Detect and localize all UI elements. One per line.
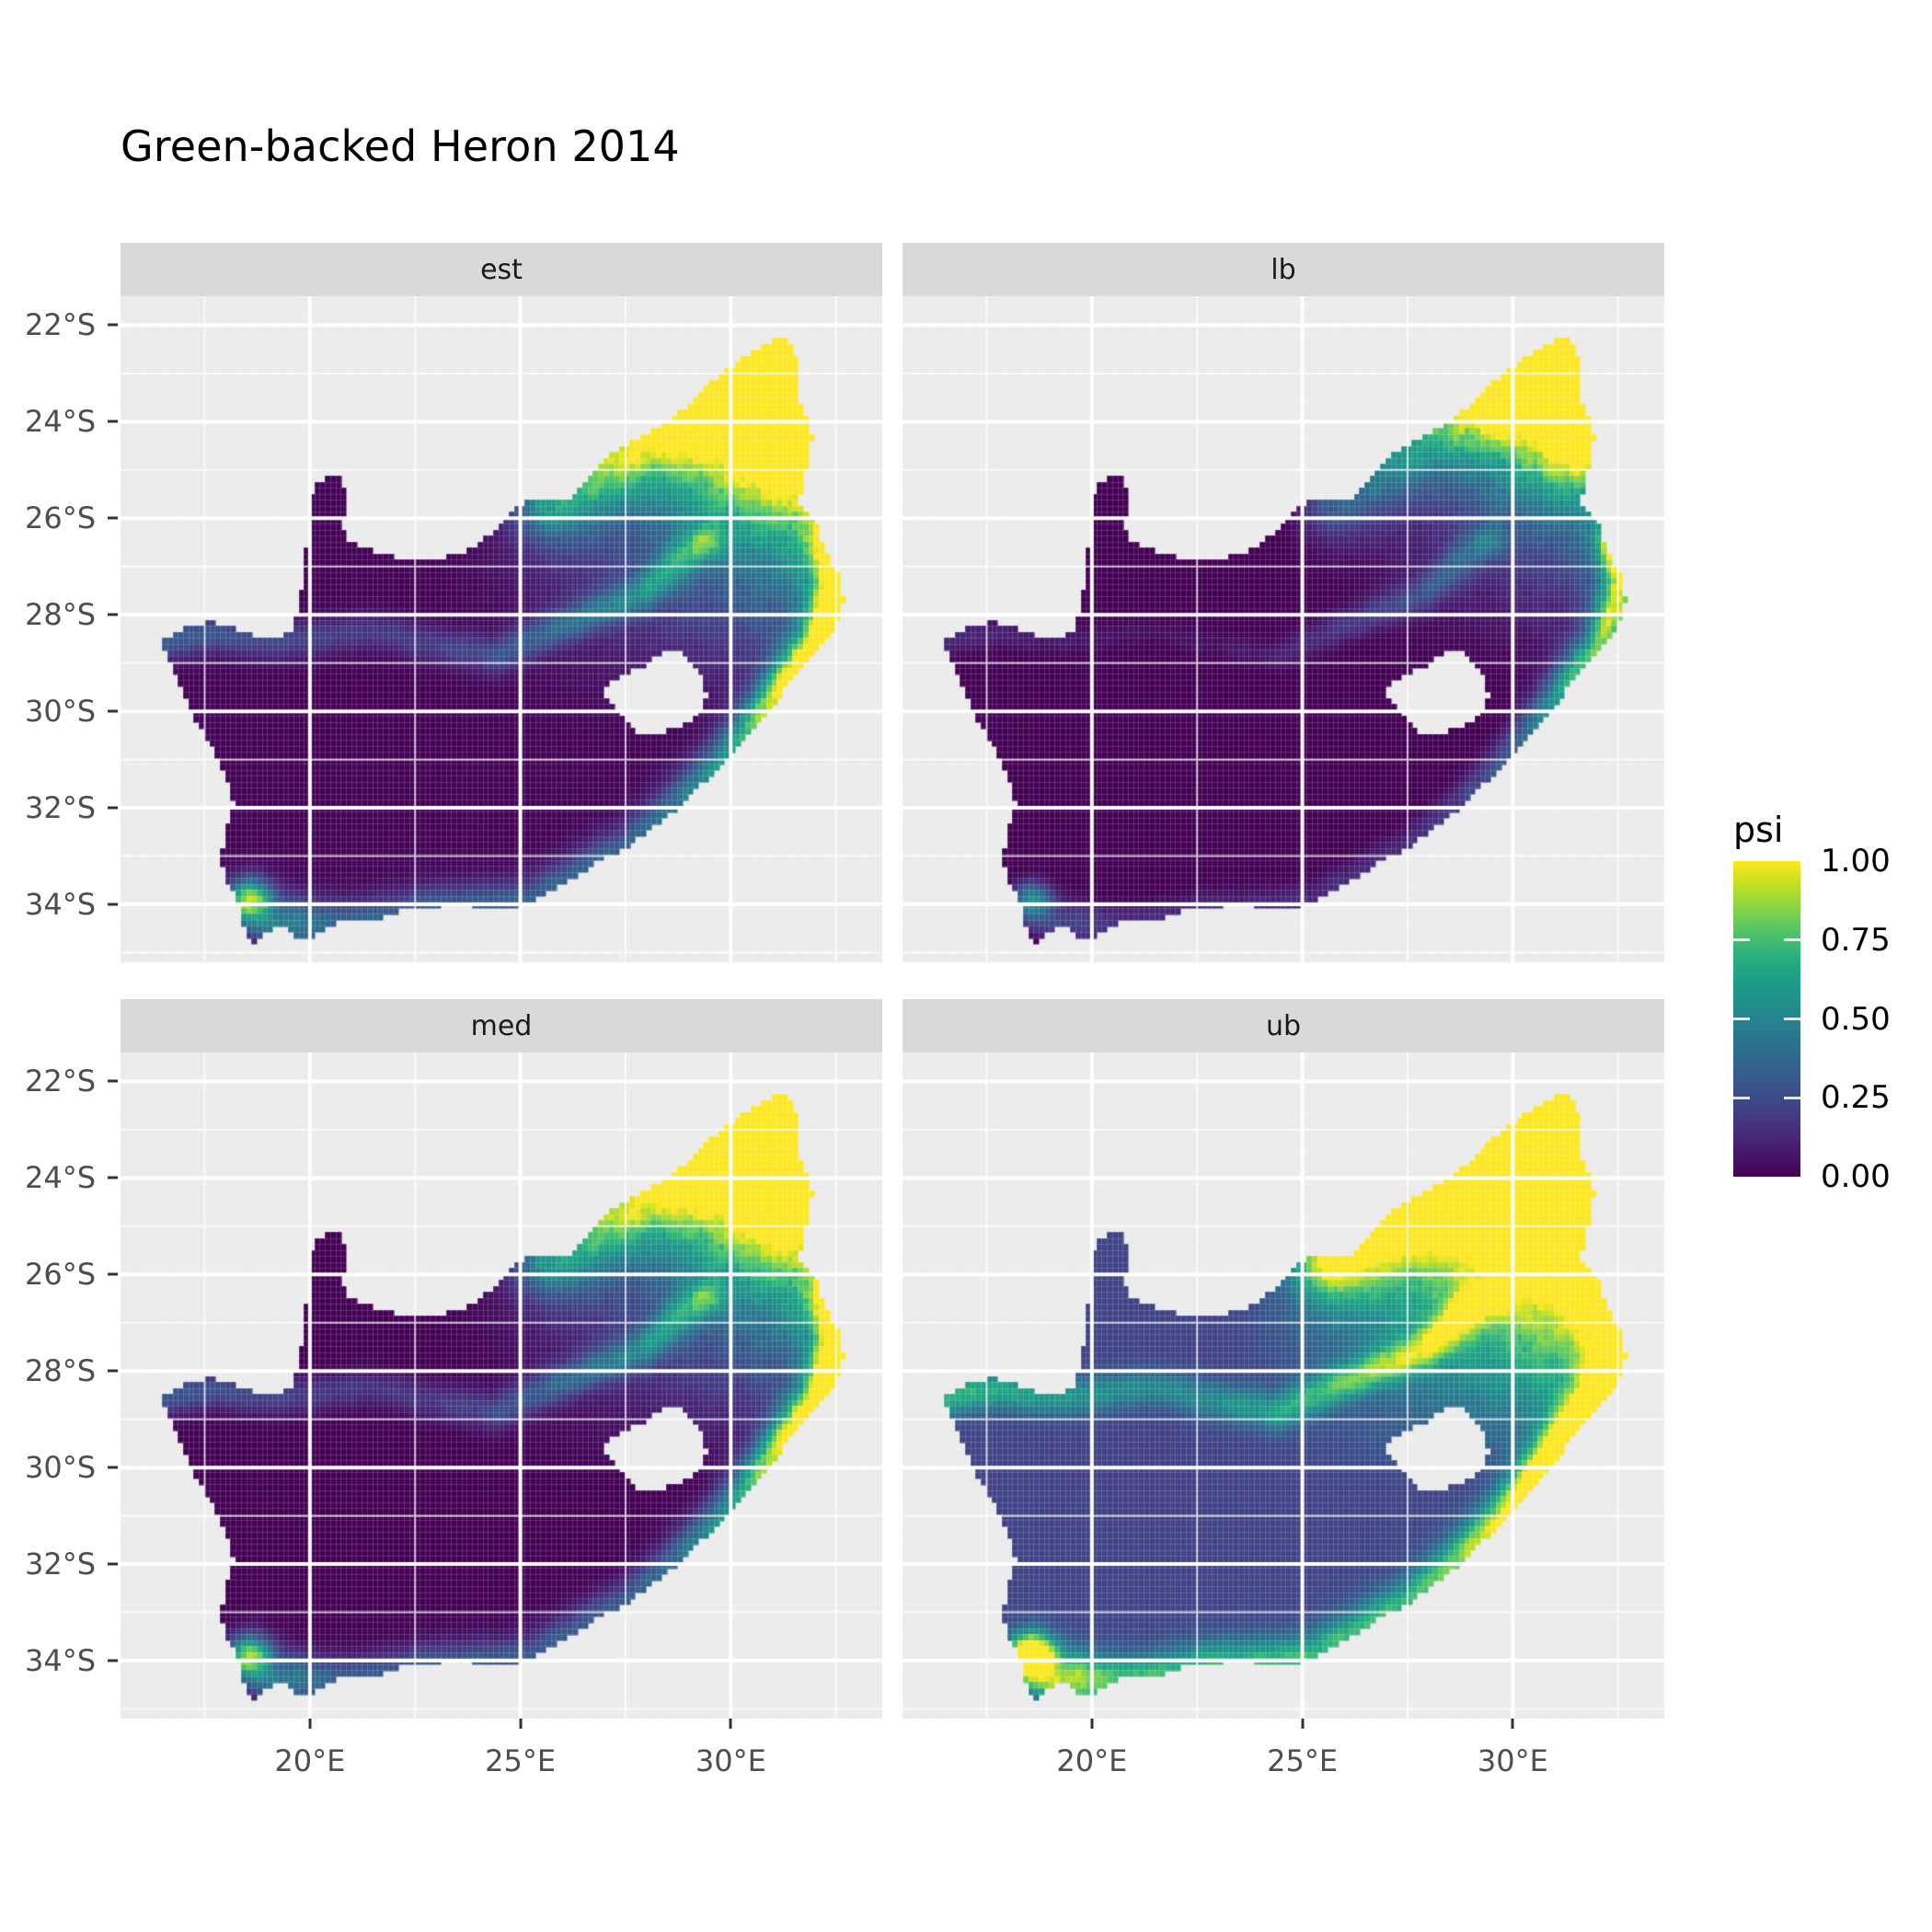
y-axis-tick-mark (108, 1177, 118, 1179)
facet-strip-lb: lb (903, 243, 1664, 296)
map-raster (903, 1052, 1664, 1719)
x-axis-tick-mark (519, 1719, 522, 1729)
y-axis-tick-mark (108, 807, 118, 810)
legend-tick-mark (1784, 1018, 1800, 1020)
legend-tick-label: 0.75 (1821, 922, 1891, 959)
legend-tick-mark (1733, 1018, 1750, 1020)
y-axis-tick-label: 34°S (0, 887, 96, 922)
y-axis-tick-mark (108, 614, 118, 616)
y-axis-tick-label: 26°S (0, 1257, 96, 1292)
x-axis-tick-mark (308, 1719, 311, 1729)
y-axis-tick-label: 32°S (0, 1547, 96, 1581)
facet-strip-med: med (121, 999, 882, 1052)
legend-title: psi (1733, 810, 1783, 850)
facet-strip-label: lb (1271, 254, 1295, 286)
facet-strip-label: ub (1266, 1010, 1301, 1042)
page-title: Green-backed Heron 2014 (121, 121, 680, 171)
y-axis-tick-label: 30°S (0, 1450, 96, 1485)
y-axis-tick-label: 28°S (0, 597, 96, 632)
y-axis-tick-mark (108, 324, 118, 327)
x-axis-tick-mark (1301, 1719, 1304, 1729)
y-axis-tick-label: 24°S (0, 404, 96, 439)
y-axis-tick-mark (108, 1080, 118, 1083)
x-axis-tick-label: 20°E (274, 1743, 345, 1778)
y-axis-tick-mark (108, 1466, 118, 1469)
y-axis-tick-label: 24°S (0, 1160, 96, 1195)
x-axis-tick-mark (730, 1719, 732, 1729)
y-axis-tick-mark (108, 420, 118, 423)
y-axis-tick-mark (108, 710, 118, 713)
x-axis-tick-label: 20°E (1056, 1743, 1127, 1778)
x-axis-tick-label: 25°E (1267, 1743, 1338, 1778)
map-panel-est (121, 296, 882, 962)
legend-tick-mark (1733, 938, 1750, 941)
map-raster (903, 296, 1664, 962)
x-axis-tick-label: 25°E (485, 1743, 556, 1778)
legend-tick-label: 0.50 (1821, 1001, 1891, 1038)
legend-tick-mark (1784, 1097, 1800, 1099)
map-raster (121, 1052, 882, 1719)
figure-root: Green-backed Heron 2014 est lb med ub 22… (0, 0, 1932, 1932)
y-axis-tick-mark (108, 517, 118, 520)
y-axis-tick-mark (108, 1370, 118, 1373)
y-axis-tick-label: 32°S (0, 790, 96, 825)
y-axis-tick-label: 22°S (0, 307, 96, 342)
legend-tick-label: 0.25 (1821, 1079, 1891, 1116)
map-panel-med (121, 1052, 882, 1719)
y-axis-tick-label: 28°S (0, 1353, 96, 1388)
y-axis-tick-label: 34°S (0, 1643, 96, 1678)
map-panel-ub (903, 1052, 1664, 1719)
y-axis-tick-mark (108, 1660, 118, 1662)
y-axis-tick-label: 30°S (0, 694, 96, 729)
map-panel-lb (903, 296, 1664, 962)
y-axis-tick-mark (108, 1273, 118, 1276)
x-axis-tick-mark (1090, 1719, 1093, 1729)
x-axis-tick-label: 30°E (696, 1743, 766, 1778)
legend-tick-mark (1784, 938, 1800, 941)
legend-tick-mark (1733, 1097, 1750, 1099)
y-axis-tick-label: 26°S (0, 500, 96, 535)
facet-strip-label: est (480, 254, 523, 286)
facet-strip-ub: ub (903, 999, 1664, 1052)
y-axis-tick-label: 22°S (0, 1064, 96, 1098)
y-axis-tick-mark (108, 903, 118, 906)
x-axis-tick-label: 30°E (1478, 1743, 1548, 1778)
legend-tick-label: 1.00 (1821, 843, 1891, 880)
facet-strip-est: est (121, 243, 882, 296)
facet-strip-label: med (471, 1010, 533, 1042)
legend-tick-label: 0.00 (1821, 1158, 1891, 1195)
y-axis-tick-mark (108, 1563, 118, 1566)
x-axis-tick-mark (1512, 1719, 1514, 1729)
map-raster (121, 296, 882, 962)
